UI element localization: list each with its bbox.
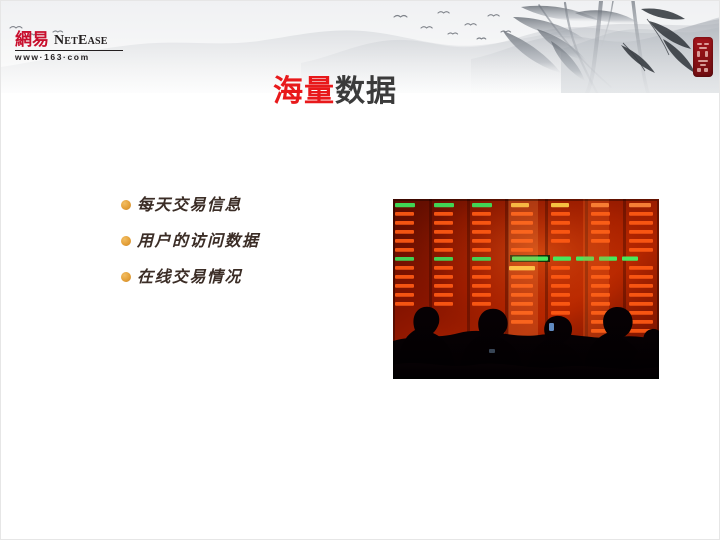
seal-engraving: [696, 40, 710, 74]
list-item-label: 用户的访问数据: [137, 231, 260, 251]
page-title-highlight: 海量: [273, 74, 335, 109]
page-title-rest: 数据: [335, 74, 397, 109]
presentation-slide: 網易 NetEase www·163·com 海量数据 每天交易信息 用户的访问…: [0, 0, 720, 540]
list-item-label: 在线交易情况: [137, 267, 242, 287]
logo-url-text: www·163·com: [15, 50, 123, 62]
bullet-dot-icon: [121, 200, 131, 210]
logo-chinese-text: 網易: [15, 32, 49, 49]
red-seal-stamp-icon: [693, 37, 713, 77]
list-item-label: 每天交易信息: [137, 195, 242, 215]
phone-screen-highlight: [549, 323, 554, 331]
stock-exchange-board-photo: [393, 199, 659, 379]
list-item: 用户的访问数据: [121, 223, 361, 259]
bullet-dot-icon: [121, 236, 131, 246]
netease-logo: 網易 NetEase www·163·com: [15, 30, 123, 62]
list-item: 每天交易信息: [121, 187, 361, 223]
logo-wordmark-row: 網易 NetEase: [15, 30, 123, 49]
logo-english-text: NetEase: [54, 34, 108, 49]
bullet-dot-icon: [121, 272, 131, 282]
bullet-list: 每天交易信息 用户的访问数据 在线交易情况: [121, 187, 361, 295]
page-title: 海量数据: [273, 73, 397, 111]
list-item: 在线交易情况: [121, 259, 361, 295]
